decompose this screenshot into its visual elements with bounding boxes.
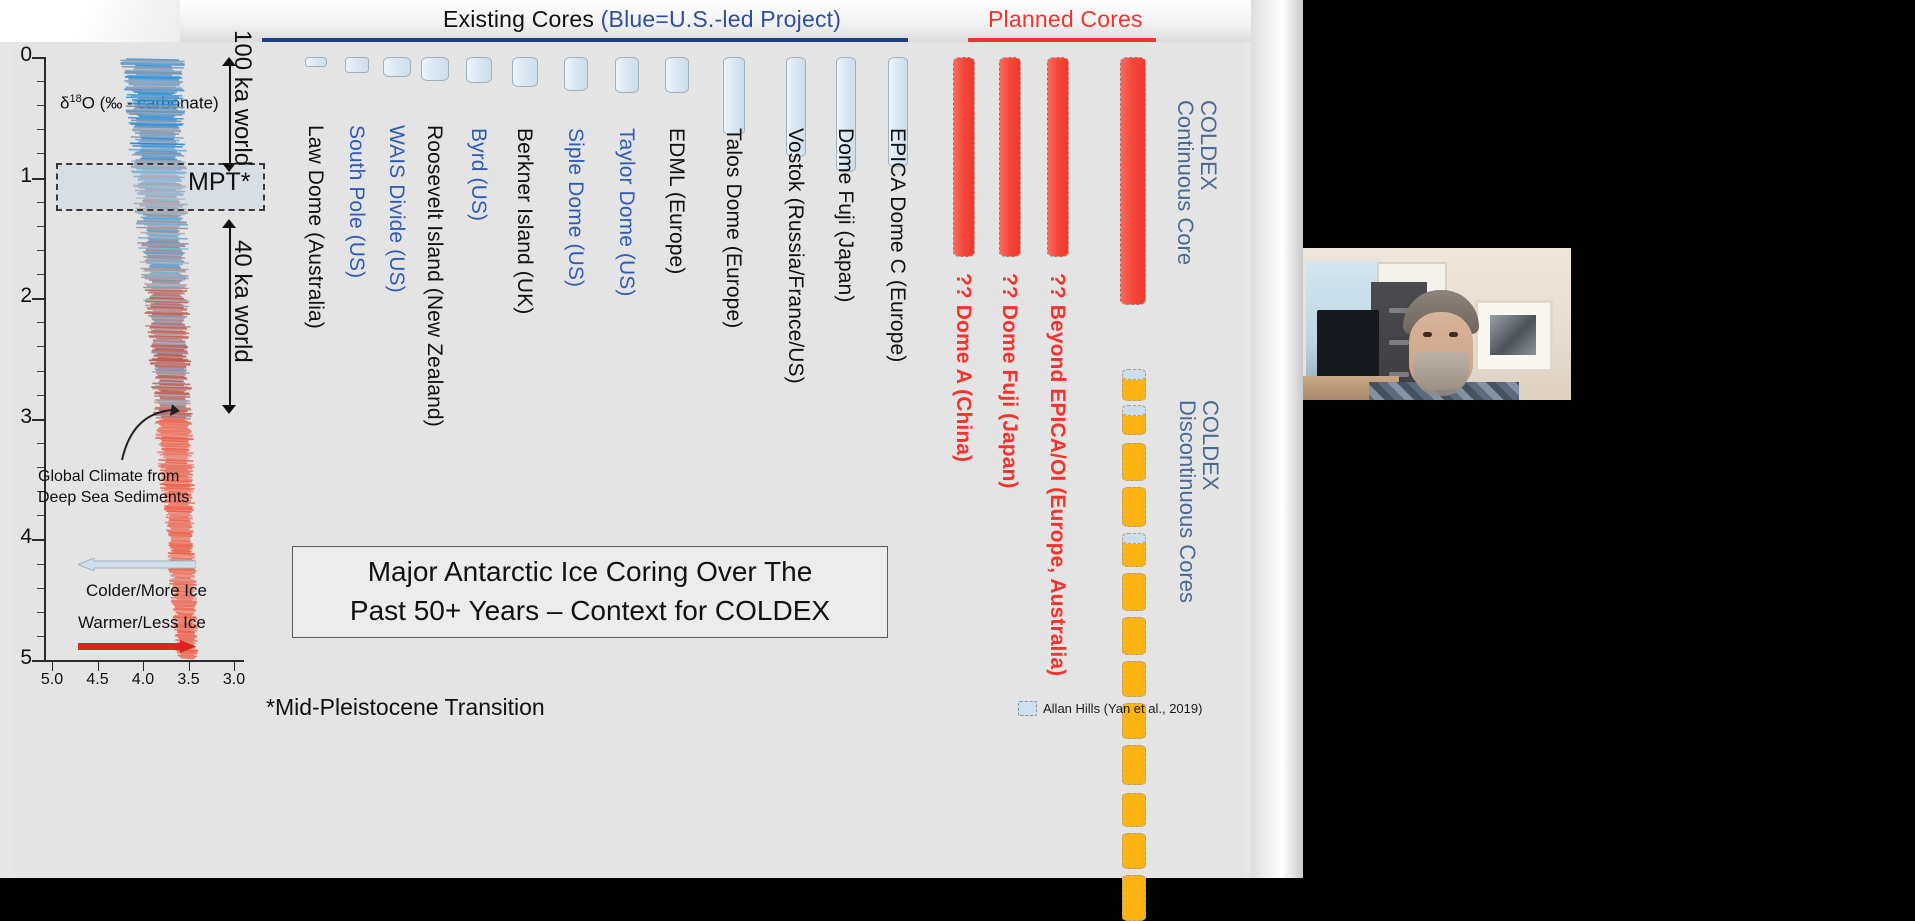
planned-core-depth-bar xyxy=(999,57,1021,257)
slide-title-line-2: Past 50+ Years – Context for COLDEX xyxy=(350,592,830,631)
attribution: Allan Hills (Yan et al., 2019) xyxy=(1018,701,1202,716)
core-name-label: Talos Dome (Europe) xyxy=(723,128,744,328)
coldex-core-segment xyxy=(1122,573,1146,611)
coldex-core-segment xyxy=(1122,833,1146,869)
core-name-label: EDML (Europe) xyxy=(666,128,687,274)
webcam-video-tile[interactable] xyxy=(1303,248,1571,400)
coldex-core-segment-cap xyxy=(1122,405,1146,416)
core-depth-bar xyxy=(512,57,538,87)
core-depth-bar xyxy=(421,57,449,81)
planned-core-depth-bar xyxy=(1120,57,1146,305)
mpt-footnote: *Mid-Pleistocene Transition xyxy=(266,694,545,721)
core-name-label: Byrd (US) xyxy=(468,128,489,221)
slide-title-box: Major Antarctic Ice Coring Over The Past… xyxy=(292,546,888,638)
core-depth-bar xyxy=(305,57,327,67)
core-name-label: WAIS Divide (US) xyxy=(386,125,407,293)
coldex-core-segment xyxy=(1122,875,1146,921)
core-name-label: Roosevelt Island (New Zealand) xyxy=(424,125,445,427)
planned-core-name-label: ?? Dome Fuji (Japan) xyxy=(999,273,1020,489)
core-depth-bar xyxy=(615,57,639,93)
core-depth-bar xyxy=(345,57,369,73)
core-depth-bar xyxy=(665,57,689,93)
coldex-core-segment-cap xyxy=(1122,369,1146,380)
core-depth-bar xyxy=(564,57,588,91)
coldex-core-segment xyxy=(1122,487,1146,527)
coldex-continuous-line-2: Continuous Core xyxy=(1173,100,1198,265)
core-depth-bar xyxy=(466,57,492,83)
core-depth-bar xyxy=(723,57,745,135)
planned-core-name-label: ?? Beyond EPICA/OI (Europe, Australia) xyxy=(1047,273,1068,676)
ice-core-columns: Law Dome (Australia)South Pole (US)WAIS … xyxy=(0,0,1303,878)
core-name-label: Taylor Dome (US) xyxy=(616,128,637,296)
core-name-label: South Pole (US) xyxy=(346,125,367,278)
coldex-continuous-core-label: COLDEX Continuous Core xyxy=(1174,100,1220,265)
coldex-core-segment xyxy=(1122,617,1146,655)
webcam-framed-picture xyxy=(1475,300,1553,372)
presentation-slide: Existing Cores (Blue=U.S.-led Project) P… xyxy=(0,0,1303,878)
ice-core-segment-icon xyxy=(1018,701,1037,716)
coldex-core-segment xyxy=(1122,793,1146,827)
core-name-label: Berkner Island (UK) xyxy=(514,128,535,314)
coldex-core-segment-cap xyxy=(1122,533,1146,544)
core-depth-bar xyxy=(383,57,411,77)
coldex-discontinuous-line-2: Discontinuous Cores xyxy=(1175,400,1200,603)
planned-core-depth-bar xyxy=(953,57,975,257)
core-name-label: Dome Fuji (Japan) xyxy=(835,128,856,302)
webcam-person-beard xyxy=(1413,352,1469,396)
coldex-core-segment xyxy=(1122,661,1146,697)
coldex-core-segment xyxy=(1122,745,1146,785)
core-name-label: Vostok (Russia/France/US) xyxy=(785,128,806,384)
coldex-continuous-line-1: COLDEX xyxy=(1196,100,1221,190)
slide-title-line-1: Major Antarctic Ice Coring Over The xyxy=(368,553,813,592)
coldex-core-segment xyxy=(1122,443,1146,481)
coldex-discontinuous-cores-label: COLDEX Discontinuous Cores xyxy=(1176,400,1222,603)
attribution-text: Allan Hills (Yan et al., 2019) xyxy=(1043,701,1202,716)
planned-core-name-label: ?? Dome A (China) xyxy=(953,273,974,462)
core-name-label: Law Dome (Australia) xyxy=(305,125,326,329)
core-name-label: EPICA Dome C (Europe) xyxy=(887,128,908,362)
webcam-person-face xyxy=(1399,290,1483,400)
planned-core-depth-bar xyxy=(1047,57,1069,257)
core-name-label: Siple Dome (US) xyxy=(565,128,586,287)
coldex-discontinuous-line-1: COLDEX xyxy=(1198,400,1223,490)
